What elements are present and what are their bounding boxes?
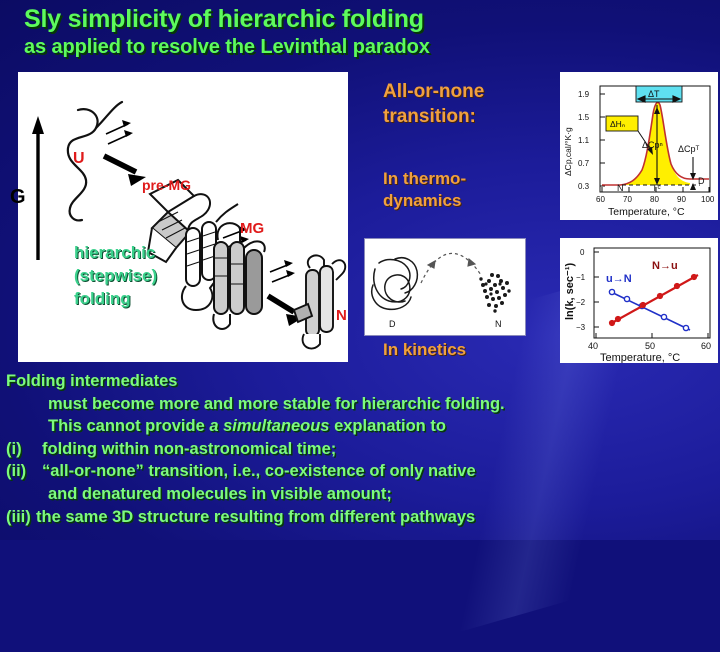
conclusion-line-1: Folding intermediates — [6, 370, 718, 393]
label-state-u: U — [73, 150, 85, 168]
item-ii-text: “all-or-none” transition, i.e., co-exist… — [42, 460, 476, 483]
svg-text:0.3: 0.3 — [578, 182, 590, 191]
hierarchic-folding-caption: hierarchic (stepwise) folding — [74, 241, 224, 310]
free-energy-axis-arrow — [32, 116, 44, 260]
label-native-n: N — [495, 319, 502, 329]
denatured-state-glyph — [372, 258, 418, 310]
conclusion-emphasis: a simultaneous — [209, 417, 329, 435]
svg-text:60: 60 — [596, 195, 605, 204]
svg-text:50: 50 — [645, 341, 655, 351]
svg-text:90: 90 — [677, 195, 686, 204]
svg-text:N: N — [617, 183, 624, 193]
kinetics-label-n-to-u: N→u — [652, 260, 678, 272]
denatured-native-illustration: D N — [365, 239, 525, 335]
svg-text:−2: −2 — [576, 298, 586, 307]
item-i-marker: (i) — [6, 438, 42, 461]
page-title: Sly simplicity of hierarchic folding — [24, 4, 696, 34]
transition-arc — [421, 253, 481, 283]
kinetics-y-axis-title: ln(k, sec⁻¹) — [564, 263, 576, 320]
svg-text:ΔCpᵀ: ΔCpᵀ — [678, 144, 700, 154]
denatured-to-native-panel: D N — [364, 238, 526, 336]
svg-text:1.5: 1.5 — [578, 113, 590, 122]
conclusion-item-ii-continued: and denatured molecules in visible amoun… — [6, 483, 718, 506]
native-state-globule-glyph — [479, 273, 510, 313]
svg-text:1.1: 1.1 — [578, 136, 590, 145]
thermo-line-2: dynamics — [383, 190, 533, 212]
label-state-mg: MG — [240, 220, 264, 237]
svg-text:0: 0 — [580, 248, 585, 257]
caption-line-1: hierarchic — [74, 241, 224, 264]
svg-text:Tᶜ: Tᶜ — [652, 183, 661, 193]
all-or-none-heading: All-or-none transition: — [383, 79, 533, 129]
conclusion-item-ii: (ii) “all-or-none” transition, i.e., co-… — [6, 460, 718, 483]
kinetics-chart-svg: ln(k, sec⁻¹) 0 −1 −2 −3 — [560, 238, 718, 363]
in-kinetics-label: In kinetics — [383, 339, 533, 361]
label-free-energy-axis: G — [10, 186, 26, 209]
in-thermodynamics-label: In thermo- dynamics — [383, 168, 533, 212]
label-denatured-d: D — [389, 319, 396, 329]
caption-line-3: folding — [74, 287, 224, 310]
item-i-text: folding within non-astronomical time; — [42, 438, 336, 461]
arc-arrowheads — [428, 259, 475, 268]
item-ii-marker: (ii) — [6, 460, 42, 483]
kinetics-label-u-to-n: u→N — [606, 273, 632, 285]
conclusion-line-3c: explanation to — [329, 417, 445, 435]
dsc-chart-svg: ΔCp,cal/°K·g 1.9 1.5 1.1 0.7 0.3 — [560, 72, 718, 220]
page-subtitle: as applied to resolve the Levinthal para… — [24, 34, 696, 60]
item-iii-marker: (iii) — [6, 506, 36, 529]
conclusion-item-i: (i) folding within non-astronomical time… — [6, 438, 718, 461]
dsc-thermogram-chart: ΔCp,cal/°K·g 1.9 1.5 1.1 0.7 0.3 — [560, 72, 718, 220]
transition-arrow-u-premg — [104, 120, 146, 186]
all-or-none-line-1: All-or-none — [383, 79, 533, 104]
slide-title-block: Sly simplicity of hierarchic folding as … — [24, 4, 696, 60]
all-or-none-line-2: transition: — [383, 104, 533, 129]
svg-text:−1: −1 — [576, 273, 586, 282]
svg-text:100: 100 — [701, 195, 715, 204]
svg-text:D: D — [698, 176, 705, 186]
svg-text:ΔHₙ: ΔHₙ — [610, 119, 626, 129]
conclusion-line-2: must become more and more stable for hie… — [6, 393, 718, 416]
conclusion-line-3: This cannot provide a simultaneous expla… — [6, 415, 718, 438]
label-state-pre-mg: pre-MG — [142, 177, 191, 193]
svg-text:70: 70 — [623, 195, 632, 204]
svg-text:40: 40 — [588, 341, 598, 351]
dsc-x-axis-title: Temperature, °C — [608, 206, 685, 218]
svg-text:60: 60 — [701, 341, 711, 351]
svg-text:−3: −3 — [576, 323, 586, 332]
conclusion-text-block: Folding intermediates must become more a… — [6, 370, 718, 528]
conclusion-line-3a: This cannot provide — [48, 417, 209, 435]
conclusion-item-iii: (iii) the same 3D structure resulting fr… — [6, 506, 718, 529]
dsc-y-axis-title: ΔCp,cal/°K·g — [563, 127, 573, 176]
kinetics-arrhenius-chart: ln(k, sec⁻¹) 0 −1 −2 −3 — [560, 238, 718, 363]
dsc-annotation-delta-t: ΔT — [636, 86, 682, 102]
svg-text:ΔT: ΔT — [648, 89, 660, 99]
folding-pathway-illustration — [18, 72, 348, 362]
item-iii-text: the same 3D structure resulting from dif… — [36, 506, 475, 529]
caption-line-2: (stepwise) — [74, 264, 224, 287]
svg-text:1.9: 1.9 — [578, 90, 590, 99]
label-state-n: N — [336, 307, 347, 324]
thermo-line-1: In thermo- — [383, 168, 533, 190]
svg-text:0.7: 0.7 — [578, 159, 590, 168]
folding-pathway-panel: U pre-MG MG N — [18, 72, 348, 362]
kinetics-x-axis-title: Temperature, °C — [600, 352, 680, 363]
svg-text:ΔCpⁿ: ΔCpⁿ — [642, 140, 663, 150]
svg-text:80: 80 — [650, 195, 659, 204]
slide-canvas: Sly simplicity of hierarchic folding as … — [0, 0, 720, 540]
native-state-glyph — [294, 255, 345, 348]
